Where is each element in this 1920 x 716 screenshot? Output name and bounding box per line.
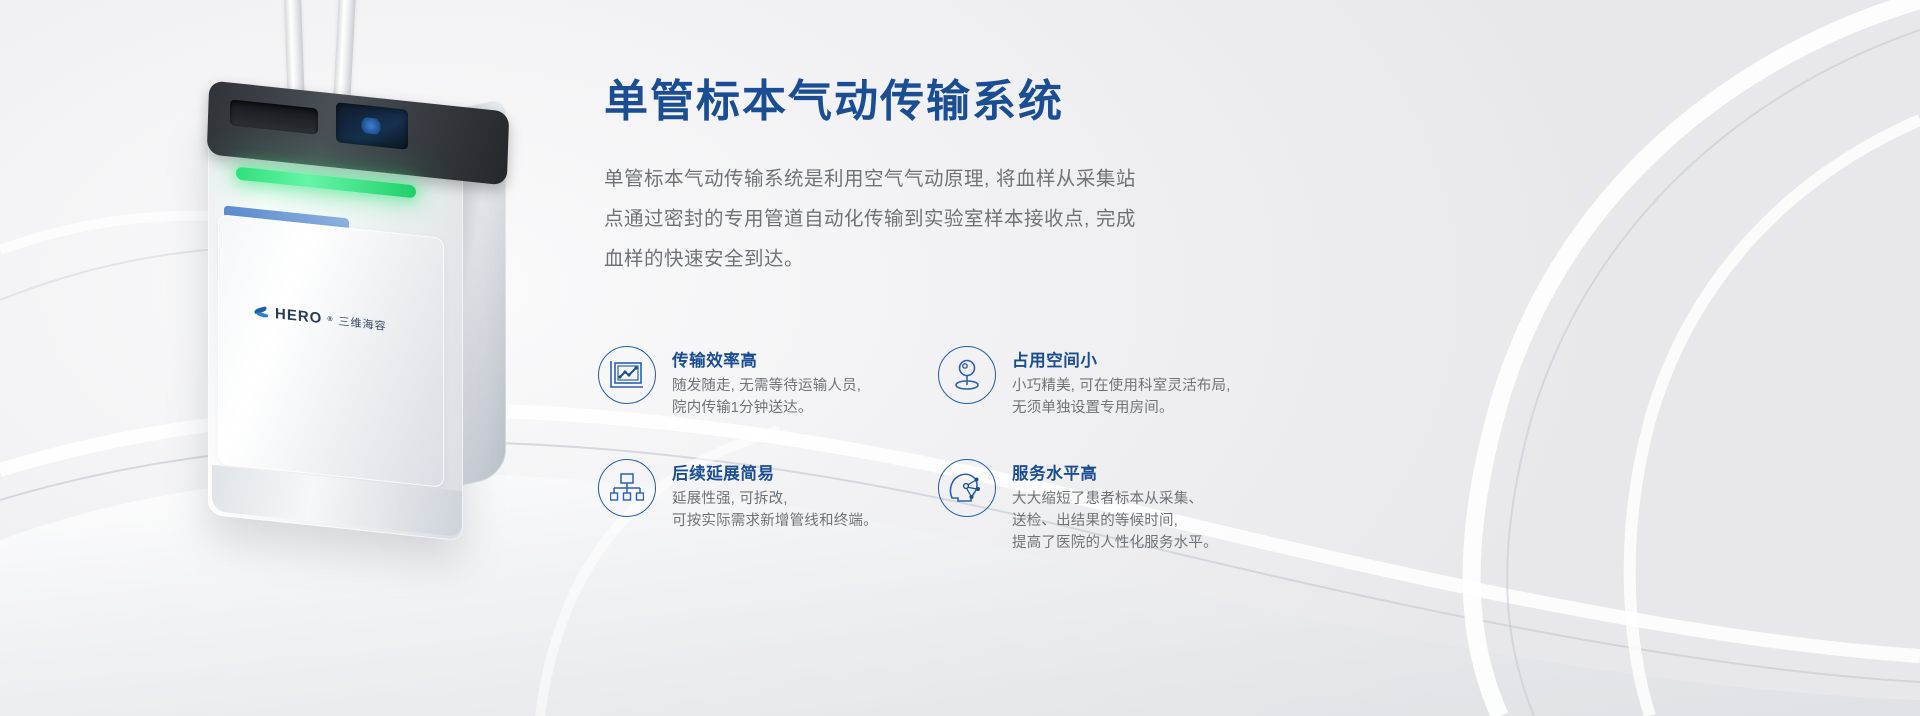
feature-desc-line: 小巧精美, 可在使用科室灵活布局, <box>1012 375 1230 397</box>
feature-desc: 延展性强, 可拆改, 可按实际需求新增管线和终端。 <box>672 488 878 532</box>
feature-desc-line: 大大缩短了患者标本从采集、 <box>1012 488 1218 510</box>
feature-title: 服务水平高 <box>1012 460 1218 484</box>
feature-item-transfer-efficiency: 传输效率高 随发随走, 无需等待运输人员, 院内传输1分钟送达。 <box>598 346 938 419</box>
hero-text-block: 单管标本气动传输系统 单管标本气动传输系统是利用空气气动原理, 将血样从采集站 … <box>604 78 1324 280</box>
logo-mark-icon <box>254 304 270 322</box>
feature-desc-line: 可按实际需求新增管线和终端。 <box>672 510 878 532</box>
location-pin-icon <box>938 346 996 404</box>
feature-desc-line: 院内传输1分钟送达。 <box>672 397 861 419</box>
feature-item-easy-extension: 后续延展简易 延展性强, 可拆改, 可按实际需求新增管线和终端。 <box>598 459 938 554</box>
description-line-1: 单管标本气动传输系统是利用空气气动原理, 将血样从采集站 <box>604 160 1264 200</box>
device-display-screen <box>336 102 408 150</box>
feature-desc: 随发随走, 无需等待运输人员, 院内传输1分钟送达。 <box>672 375 861 419</box>
feature-desc-line: 延展性强, 可拆改, <box>672 488 878 510</box>
feature-text: 后续延展简易 延展性强, 可拆改, 可按实际需求新增管线和终端。 <box>672 459 878 532</box>
chart-line-icon <box>598 346 656 404</box>
feature-text: 占用空间小 小巧精美, 可在使用科室灵活布局, 无须单独设置专用房间。 <box>1012 346 1230 419</box>
product-image: HERO® 三维海容 <box>150 0 570 640</box>
head-network-icon <box>938 459 996 517</box>
feature-item-small-footprint: 占用空间小 小巧精美, 可在使用科室灵活布局, 无须单独设置专用房间。 <box>938 346 1278 419</box>
page-title: 单管标本气动传输系统 <box>604 78 1324 126</box>
feature-desc: 小巧精美, 可在使用科室灵活布局, 无须单独设置专用房间。 <box>1012 375 1230 419</box>
feature-title: 后续延展简易 <box>672 460 878 484</box>
description-line-2: 点通过密封的专用管道自动化传输到实验室样本接收点, 完成 <box>604 200 1264 240</box>
org-tree-icon <box>598 459 656 517</box>
feature-desc-line: 送检、出结果的等候时间, <box>1012 510 1218 532</box>
brand-trademark: ® <box>327 316 333 324</box>
feature-list: 传输效率高 随发随走, 无需等待运输人员, 院内传输1分钟送达。 占用空间小 <box>598 346 1298 554</box>
hero-description: 单管标本气动传输系统是利用空气气动原理, 将血样从采集站 点通过密封的专用管道自… <box>604 160 1264 280</box>
feature-desc-line: 提高了医院的人性化服务水平。 <box>1012 532 1218 554</box>
feature-title: 传输效率高 <box>672 347 861 371</box>
feature-text: 服务水平高 大大缩短了患者标本从采集、 送检、出结果的等候时间, 提高了医院的人… <box>1012 459 1218 554</box>
feature-desc-line: 无须单独设置专用房间。 <box>1012 397 1230 419</box>
feature-text: 传输效率高 随发随走, 无需等待运输人员, 院内传输1分钟送达。 <box>672 346 861 419</box>
feature-desc: 大大缩短了患者标本从采集、 送检、出结果的等候时间, 提高了医院的人性化服务水平… <box>1012 488 1218 554</box>
feature-title: 占用空间小 <box>1012 347 1230 371</box>
feature-item-service-level: 服务水平高 大大缩短了患者标本从采集、 送检、出结果的等候时间, 提高了医院的人… <box>938 459 1278 554</box>
device-front-panel <box>218 214 444 488</box>
description-line-3: 血样的快速安全到达。 <box>604 240 1264 280</box>
hero-banner: HERO® 三维海容 单管标本气动传输系统 单管标本气动传输系统是利用空气气动原… <box>0 0 1920 716</box>
feature-desc-line: 随发随走, 无需等待运输人员, <box>672 375 861 397</box>
